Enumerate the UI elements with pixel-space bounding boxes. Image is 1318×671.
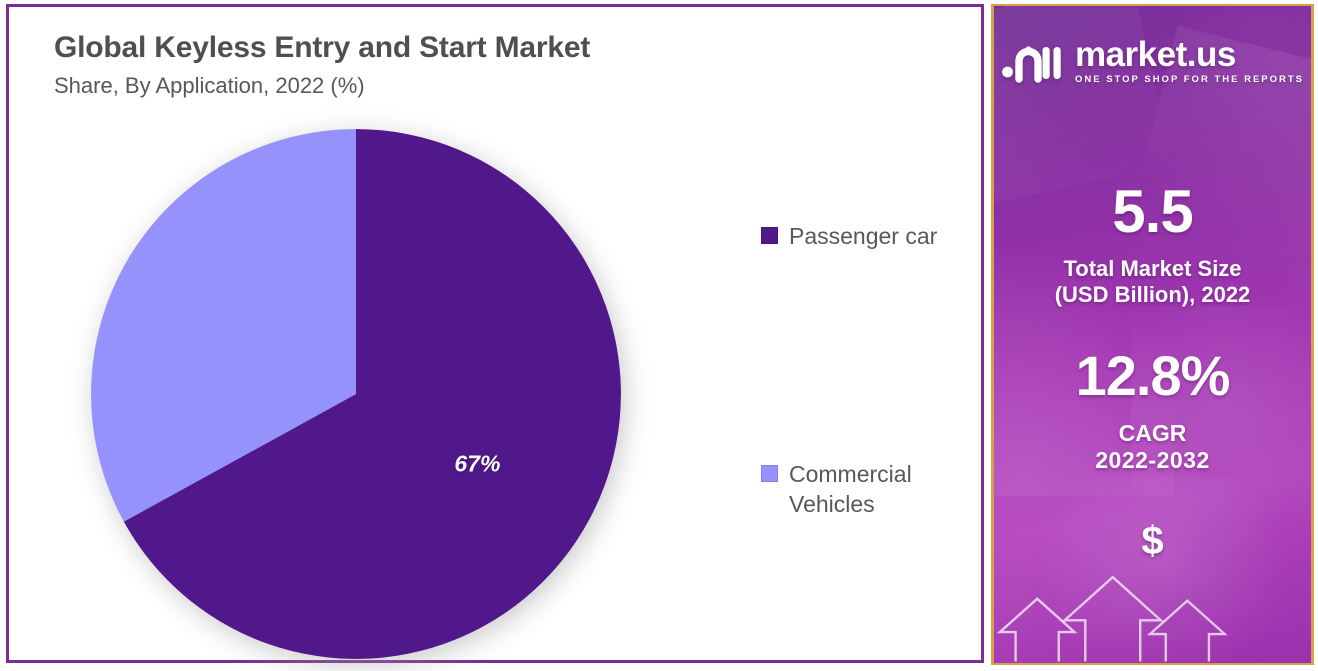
bg-texture [991, 4, 1172, 203]
stat-label: CAGR [994, 420, 1311, 447]
title-block: Global Keyless Entry and Start Market Sh… [54, 31, 914, 99]
stat-total-market-size: 5.5 Total Market Size (USD Billion), 202… [994, 182, 1311, 308]
brand-panel: market.us ONE STOP SHOP FOR THE REPORTS … [991, 4, 1314, 665]
legend-swatch-icon [761, 227, 778, 244]
pie-slices [91, 129, 621, 659]
page-title: Global Keyless Entry and Start Market [54, 31, 914, 66]
logo-words: market.us ONE STOP SHOP FOR THE REPORTS [1075, 38, 1304, 85]
chart-panel: Global Keyless Entry and Start Market Sh… [6, 4, 984, 663]
market-us-logo-icon [1001, 39, 1063, 85]
legend-label: Commercial Vehicles [789, 459, 969, 520]
stat-value: 12.8% [994, 348, 1311, 404]
infographic-root: Global Keyless Entry and Start Market Sh… [0, 0, 1318, 671]
legend-item-passenger-car[interactable]: Passenger car [761, 221, 937, 251]
legend-item-commercial-vehicles[interactable]: Commercial Vehicles [761, 459, 969, 520]
stat-sublabel: 2022-2032 [994, 447, 1311, 474]
pie-chart: 67% [87, 125, 633, 671]
stat-value: 5.5 [994, 182, 1311, 242]
dollar-sign-icon: $ [1141, 521, 1163, 561]
legend-label: Passenger car [789, 221, 937, 251]
logo-wordmark: market.us [1075, 38, 1236, 71]
legend-swatch-icon [761, 465, 778, 482]
stat-cagr: 12.8% CAGR 2022-2032 [994, 348, 1311, 474]
chart-subtitle: Share, By Application, 2022 (%) [54, 73, 914, 99]
stat-label: Total Market Size [994, 256, 1311, 282]
logo-tagline: ONE STOP SHOP FOR THE REPORTS [1075, 74, 1304, 85]
stat-sublabel: (USD Billion), 2022 [994, 282, 1311, 308]
growth-arrows-decor: $ [994, 503, 1311, 663]
brand-logo[interactable]: market.us ONE STOP SHOP FOR THE REPORTS [994, 38, 1311, 85]
